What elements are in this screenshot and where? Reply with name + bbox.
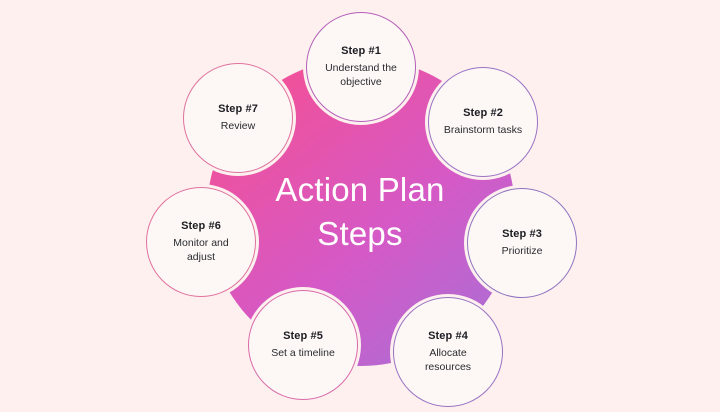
step-description-6: Monitor and adjust <box>173 237 228 264</box>
step-circle-7[interactable]: Step #7 Review <box>183 63 293 173</box>
step-number-2: Step #2 <box>463 107 503 119</box>
step-description-2: Brainstorm tasks <box>444 124 522 138</box>
step-circle-5[interactable]: Step #5 Set a timeline <box>248 290 358 400</box>
step-number-4: Step #4 <box>428 330 468 342</box>
step-number-6: Step #6 <box>181 220 221 232</box>
step-number-5: Step #5 <box>283 330 323 342</box>
step-circle-6[interactable]: Step #6 Monitor and adjust <box>146 187 256 297</box>
step-circle-1[interactable]: Step #1 Understand the objective <box>306 12 416 122</box>
step-description-3: Prioritize <box>502 245 543 259</box>
step-number-7: Step #7 <box>218 103 258 115</box>
step-number-3: Step #3 <box>502 228 542 240</box>
step-circle-3[interactable]: Step #3 Prioritize <box>467 188 577 298</box>
step-description-5: Set a timeline <box>271 347 335 361</box>
step-number-1: Step #1 <box>341 45 381 57</box>
infographic-canvas: Action Plan Steps Step #1 Understand the… <box>0 0 720 412</box>
step-circle-4[interactable]: Step #4 Allocate resources <box>393 297 503 407</box>
step-description-7: Review <box>221 120 255 134</box>
step-description-4: Allocate resources <box>425 347 471 374</box>
step-circle-2[interactable]: Step #2 Brainstorm tasks <box>428 67 538 177</box>
step-description-1: Understand the objective <box>325 62 397 89</box>
